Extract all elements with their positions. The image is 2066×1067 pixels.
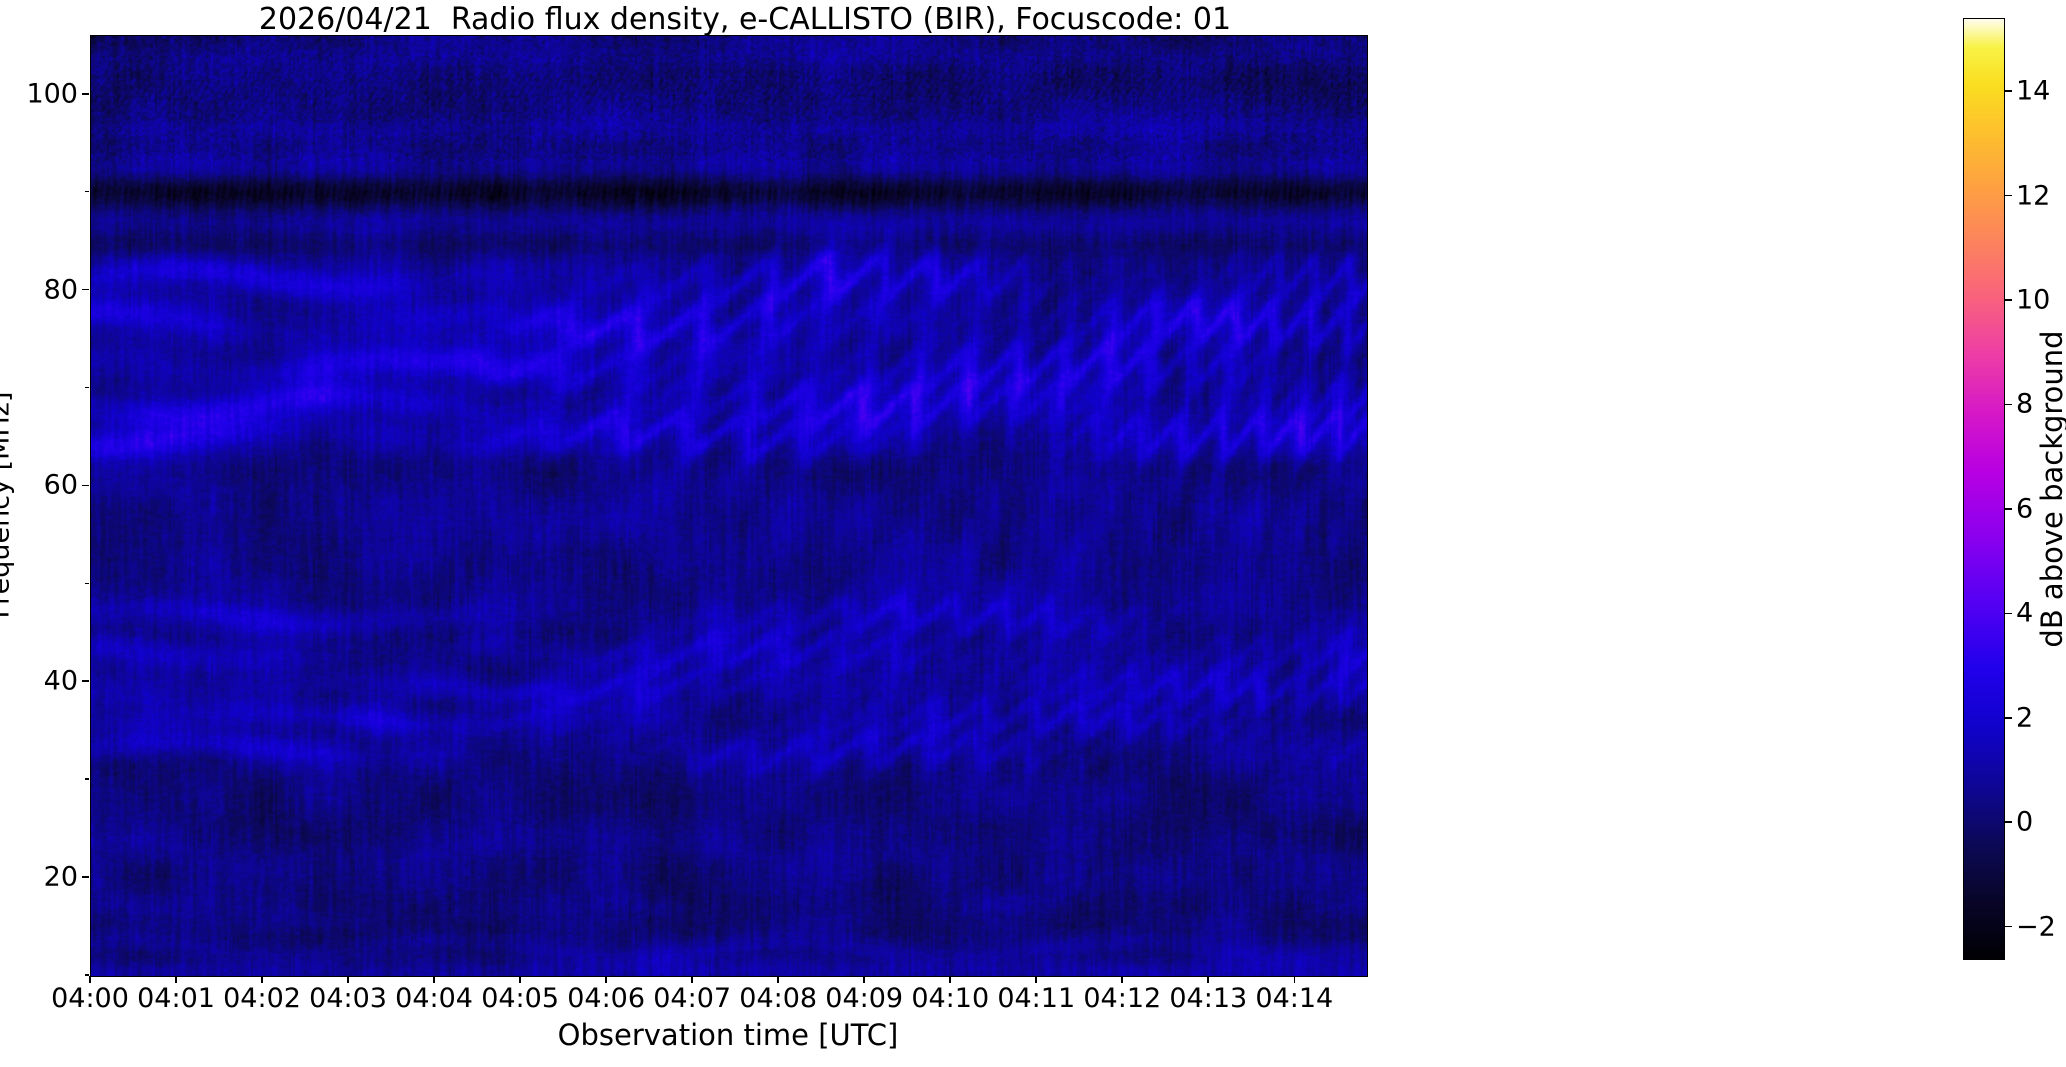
x-tick-mark (89, 976, 91, 983)
x-tick-mark (1035, 976, 1037, 983)
x-tick-mark (691, 976, 693, 983)
colorbar-tick-mark (2005, 195, 2012, 197)
colorbar-tick-label: 0 (2016, 807, 2033, 838)
colorbar-tick-mark (2005, 404, 2012, 406)
colorbar-tick-mark (2005, 821, 2012, 823)
y-minor-tick-mark (85, 778, 89, 780)
colorbar-tick-mark (2005, 717, 2012, 719)
x-tick-label: 04:07 (653, 983, 731, 1014)
x-tick-mark (347, 976, 349, 983)
y-minor-tick-mark (85, 191, 89, 193)
x-tick-label: 04:06 (567, 983, 645, 1014)
colorbar-tick-label: 8 (2016, 389, 2033, 420)
x-tick-mark (519, 976, 521, 983)
y-tick-label: 60 (44, 470, 78, 501)
x-tick-mark (1121, 976, 1123, 983)
x-tick-label: 04:00 (51, 983, 129, 1014)
x-tick-label: 04:02 (223, 983, 301, 1014)
colorbar-gradient (1964, 19, 2004, 959)
y-tick-mark (82, 680, 89, 682)
y-tick-mark (82, 289, 89, 291)
y-tick-label: 100 (26, 78, 78, 109)
x-tick-mark (433, 976, 435, 983)
colorbar-tick-label: 2 (2016, 702, 2033, 733)
figure-canvas: 2026/04/21 Radio flux density, e-CALLIST… (0, 0, 2066, 1067)
x-tick-mark (1294, 976, 1296, 983)
x-tick-mark (261, 976, 263, 983)
x-tick-mark (863, 976, 865, 983)
colorbar-tick-label: 14 (2016, 76, 2050, 107)
y-tick-mark (82, 876, 89, 878)
colorbar-tick-label: 6 (2016, 493, 2033, 524)
colorbar-tick-label: 10 (2016, 285, 2050, 316)
y-minor-tick-mark (85, 583, 89, 585)
colorbar-tick-mark (2005, 90, 2012, 92)
colorbar-tick-mark (2005, 926, 2012, 928)
y-tick-mark (82, 93, 89, 95)
x-tick-label: 04:14 (1255, 983, 1333, 1014)
y-axis-label: Frequency [MHz] (0, 392, 16, 619)
spectrogram-image (91, 36, 1367, 976)
x-tick-label: 04:11 (997, 983, 1075, 1014)
chart-title: 2026/04/21 Radio flux density, e-CALLIST… (0, 2, 1490, 37)
y-tick-label: 80 (44, 274, 78, 305)
colorbar-tick-label: 12 (2016, 180, 2050, 211)
x-tick-label: 04:13 (1169, 983, 1247, 1014)
colorbar-tick-label: 4 (2016, 598, 2033, 629)
x-tick-mark (605, 976, 607, 983)
x-tick-label: 04:03 (309, 983, 387, 1014)
spectrogram-axes[interactable] (90, 35, 1368, 977)
x-tick-label: 04:10 (911, 983, 989, 1014)
colorbar-axes[interactable] (1963, 18, 2005, 960)
colorbar-tick-mark (2005, 613, 2012, 615)
x-tick-label: 04:04 (395, 983, 473, 1014)
x-tick-mark (1207, 976, 1209, 983)
x-axis-label: Observation time [UTC] (558, 1018, 899, 1052)
x-tick-label: 04:09 (825, 983, 903, 1014)
x-tick-label: 04:05 (481, 983, 559, 1014)
colorbar-tick-mark (2005, 299, 2012, 301)
colorbar-tick-mark (2005, 508, 2012, 510)
x-tick-label: 04:08 (739, 983, 817, 1014)
x-tick-mark (777, 976, 779, 983)
y-tick-label: 40 (44, 666, 78, 697)
y-minor-tick-mark (85, 387, 89, 389)
colorbar-label: dB above background (2035, 330, 2066, 647)
x-tick-label: 04:12 (1083, 983, 1161, 1014)
y-tick-mark (82, 485, 89, 487)
x-tick-mark (949, 976, 951, 983)
x-tick-mark (175, 976, 177, 983)
x-tick-label: 04:01 (137, 983, 215, 1014)
y-tick-label: 20 (44, 862, 78, 893)
colorbar-tick-label: −2 (2016, 911, 2056, 942)
